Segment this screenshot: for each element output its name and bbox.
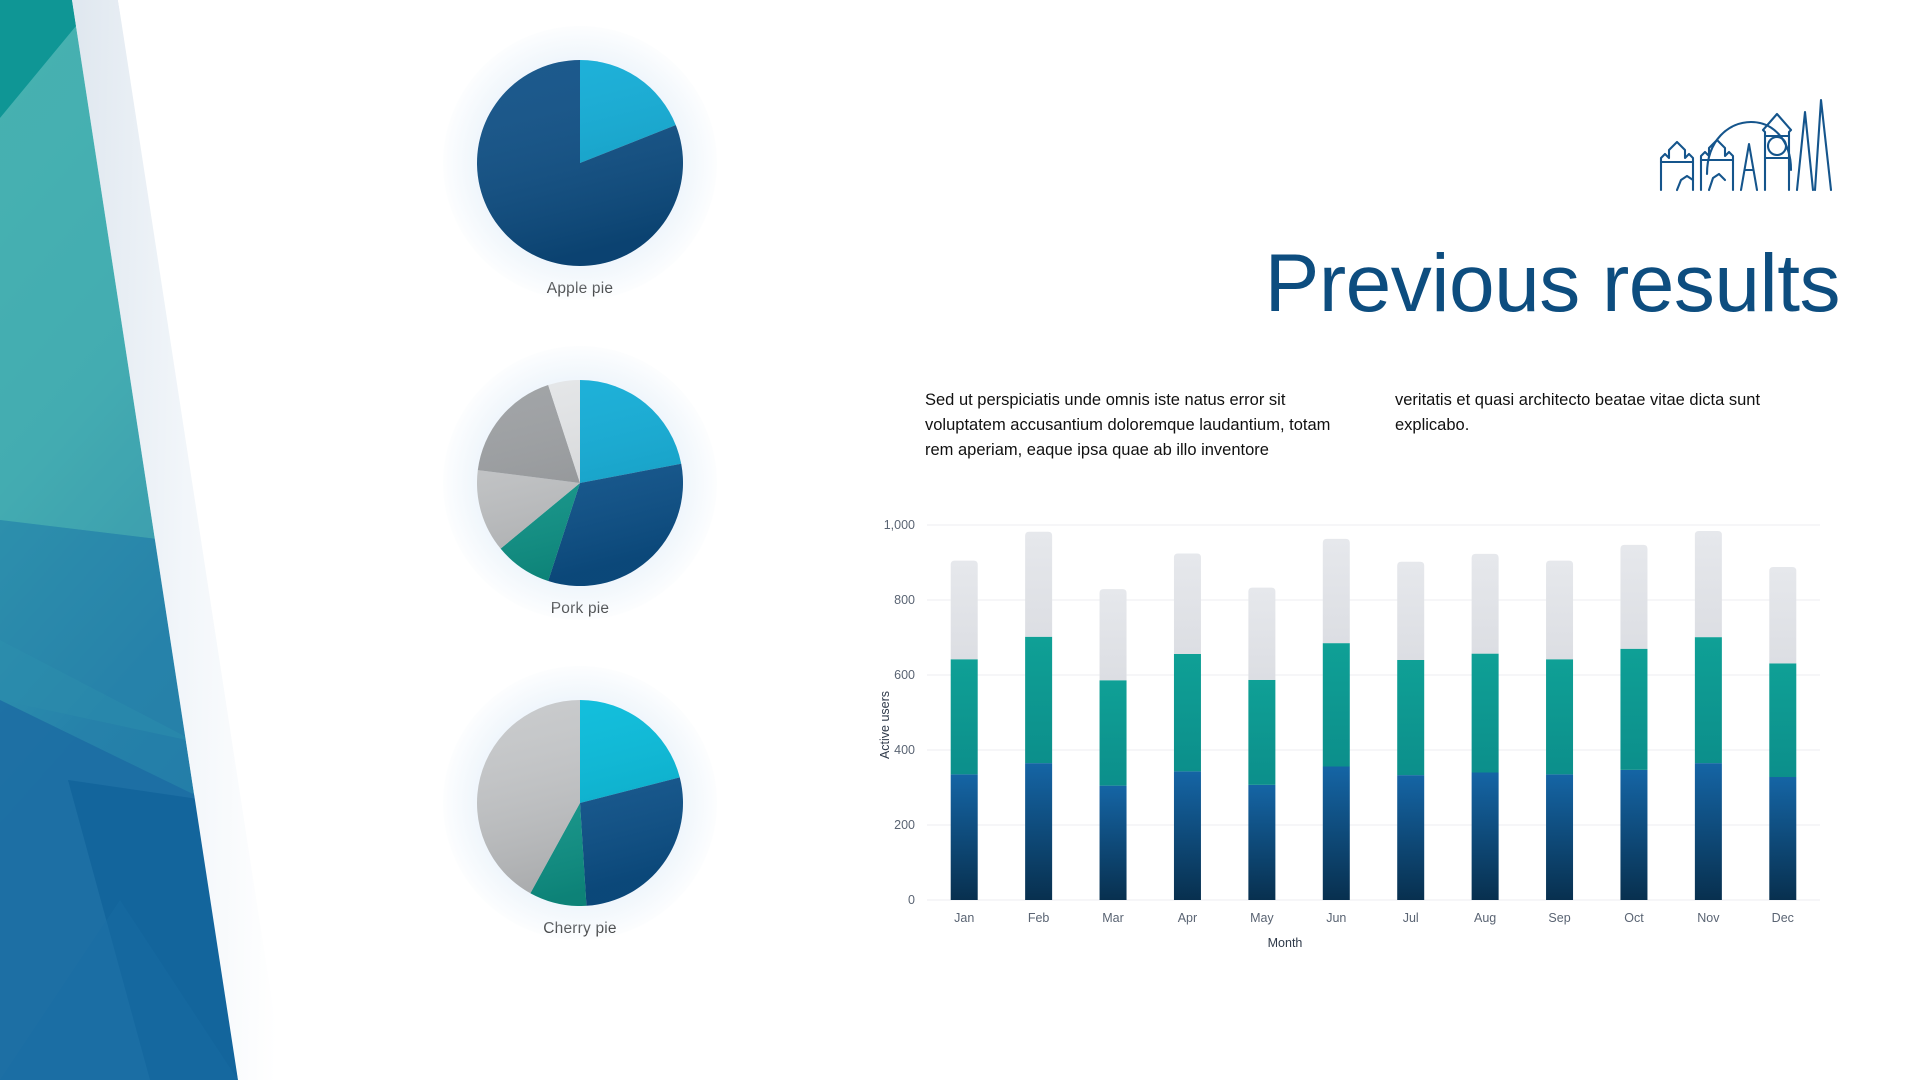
pie-block-pork: Pork pie: [430, 380, 730, 700]
bar-segment-series-2-Oct[interactable]: [1620, 649, 1647, 770]
bar-segment-series-3-Apr[interactable]: [1174, 554, 1201, 655]
x-tick-label: Dec: [1772, 911, 1794, 925]
x-tick-label: Jul: [1403, 911, 1419, 925]
y-tick-label: 400: [894, 743, 915, 757]
bar-segment-series-1-Nov[interactable]: [1695, 763, 1722, 900]
bar-segment-series-3-Aug[interactable]: [1472, 554, 1499, 654]
bar-segment-series-3-Jan[interactable]: [951, 561, 978, 660]
chart-gridlines: [927, 525, 1820, 900]
bar-segment-series-3-Feb[interactable]: [1025, 532, 1052, 637]
x-tick-label: Feb: [1028, 911, 1050, 925]
y-tick-label: 800: [894, 593, 915, 607]
body-paragraph-right: veritatis et quasi architecto beatae vit…: [1395, 388, 1825, 462]
bar-segment-series-2-Jan[interactable]: [951, 659, 978, 774]
body-text-columns: Sed ut perspiciatis unde omnis iste natu…: [925, 388, 1825, 462]
x-tick-label: Nov: [1697, 911, 1720, 925]
bar-segment-series-1-May[interactable]: [1248, 785, 1275, 900]
bar-segment-series-1-Jun[interactable]: [1323, 767, 1350, 901]
pie-chart-column: Apple pie Pork pie Cherry pie: [430, 60, 730, 1060]
decorative-side-panel: [0, 0, 300, 1080]
pie-cherry-wrap: [477, 700, 683, 906]
bar-segment-series-2-May[interactable]: [1248, 680, 1275, 785]
bar-segment-series-3-Nov[interactable]: [1695, 531, 1722, 637]
stacked-bar-chart[interactable]: 02004006008001,000 JanFebMarAprMayJunJul…: [865, 515, 1825, 955]
decorative-polygons: [0, 0, 300, 1080]
chart-y-axis-label: Active users: [878, 691, 892, 759]
bar-segment-series-1-Feb[interactable]: [1025, 763, 1052, 900]
x-tick-label: Jan: [954, 911, 974, 925]
city-skyline-icon: [1655, 92, 1835, 192]
bar-segment-series-3-May[interactable]: [1248, 588, 1275, 680]
chart-x-axis-label: Month: [1268, 936, 1303, 950]
x-tick-label: Apr: [1178, 911, 1197, 925]
bar-segment-series-1-Apr[interactable]: [1174, 771, 1201, 900]
chart-x-ticks: JanFebMarAprMayJunJulAugSepOctNovDec: [954, 911, 1794, 925]
bar-segment-series-3-Oct[interactable]: [1620, 545, 1647, 649]
bar-segment-series-2-Apr[interactable]: [1174, 654, 1201, 771]
bar-segment-series-3-Jul[interactable]: [1397, 562, 1424, 660]
y-tick-label: 200: [894, 818, 915, 832]
pie-pork-wrap: [477, 380, 683, 586]
bar-segment-series-1-Dec[interactable]: [1769, 777, 1796, 900]
bar-segment-series-3-Dec[interactable]: [1769, 567, 1796, 663]
pie-apple-wrap: [477, 60, 683, 266]
bar-segment-series-2-Jun[interactable]: [1323, 643, 1350, 766]
chart-bars: [951, 531, 1797, 900]
bar-segment-series-2-Sep[interactable]: [1546, 659, 1573, 774]
bar-segment-series-1-Jan[interactable]: [951, 774, 978, 900]
bar-segment-series-3-Sep[interactable]: [1546, 561, 1573, 660]
bar-segment-series-1-Aug[interactable]: [1472, 773, 1499, 901]
bar-segment-series-1-Mar[interactable]: [1100, 786, 1127, 900]
bar-segment-series-3-Mar[interactable]: [1100, 589, 1127, 680]
x-tick-label: May: [1250, 911, 1274, 925]
page-title: Previous results: [1180, 243, 1840, 325]
bar-segment-series-1-Jul[interactable]: [1397, 775, 1424, 900]
bar-segment-series-2-Jul[interactable]: [1397, 660, 1424, 775]
x-tick-label: Mar: [1102, 911, 1124, 925]
bar-segment-series-1-Sep[interactable]: [1546, 774, 1573, 900]
bar-segment-series-1-Oct[interactable]: [1620, 770, 1647, 900]
bar-segment-series-2-Nov[interactable]: [1695, 637, 1722, 763]
slide-root: Apple pie Pork pie Cherry pie: [0, 0, 1920, 1080]
x-tick-label: Sep: [1548, 911, 1570, 925]
x-tick-label: Oct: [1624, 911, 1644, 925]
y-tick-label: 0: [908, 893, 915, 907]
bar-segment-series-3-Jun[interactable]: [1323, 539, 1350, 643]
x-tick-label: Aug: [1474, 911, 1496, 925]
pie-block-apple: Apple pie: [430, 60, 730, 380]
pie-block-cherry: Cherry pie: [430, 700, 730, 1020]
pie-chart-cherry[interactable]: [477, 700, 683, 906]
y-tick-label: 1,000: [884, 518, 915, 532]
city-skyline-logo: [1655, 92, 1835, 192]
bar-segment-series-2-Dec[interactable]: [1769, 663, 1796, 777]
y-tick-label: 600: [894, 668, 915, 682]
bar-segment-series-2-Mar[interactable]: [1100, 680, 1127, 785]
x-tick-label: Jun: [1326, 911, 1346, 925]
pie-chart-pork[interactable]: [477, 380, 683, 586]
body-paragraph-left: Sed ut perspiciatis unde omnis iste natu…: [925, 388, 1355, 462]
bar-segment-series-2-Feb[interactable]: [1025, 637, 1052, 763]
bar-chart-svg[interactable]: 02004006008001,000 JanFebMarAprMayJunJul…: [865, 515, 1825, 955]
pie-chart-apple[interactable]: [477, 60, 683, 266]
bar-segment-series-2-Aug[interactable]: [1472, 654, 1499, 773]
